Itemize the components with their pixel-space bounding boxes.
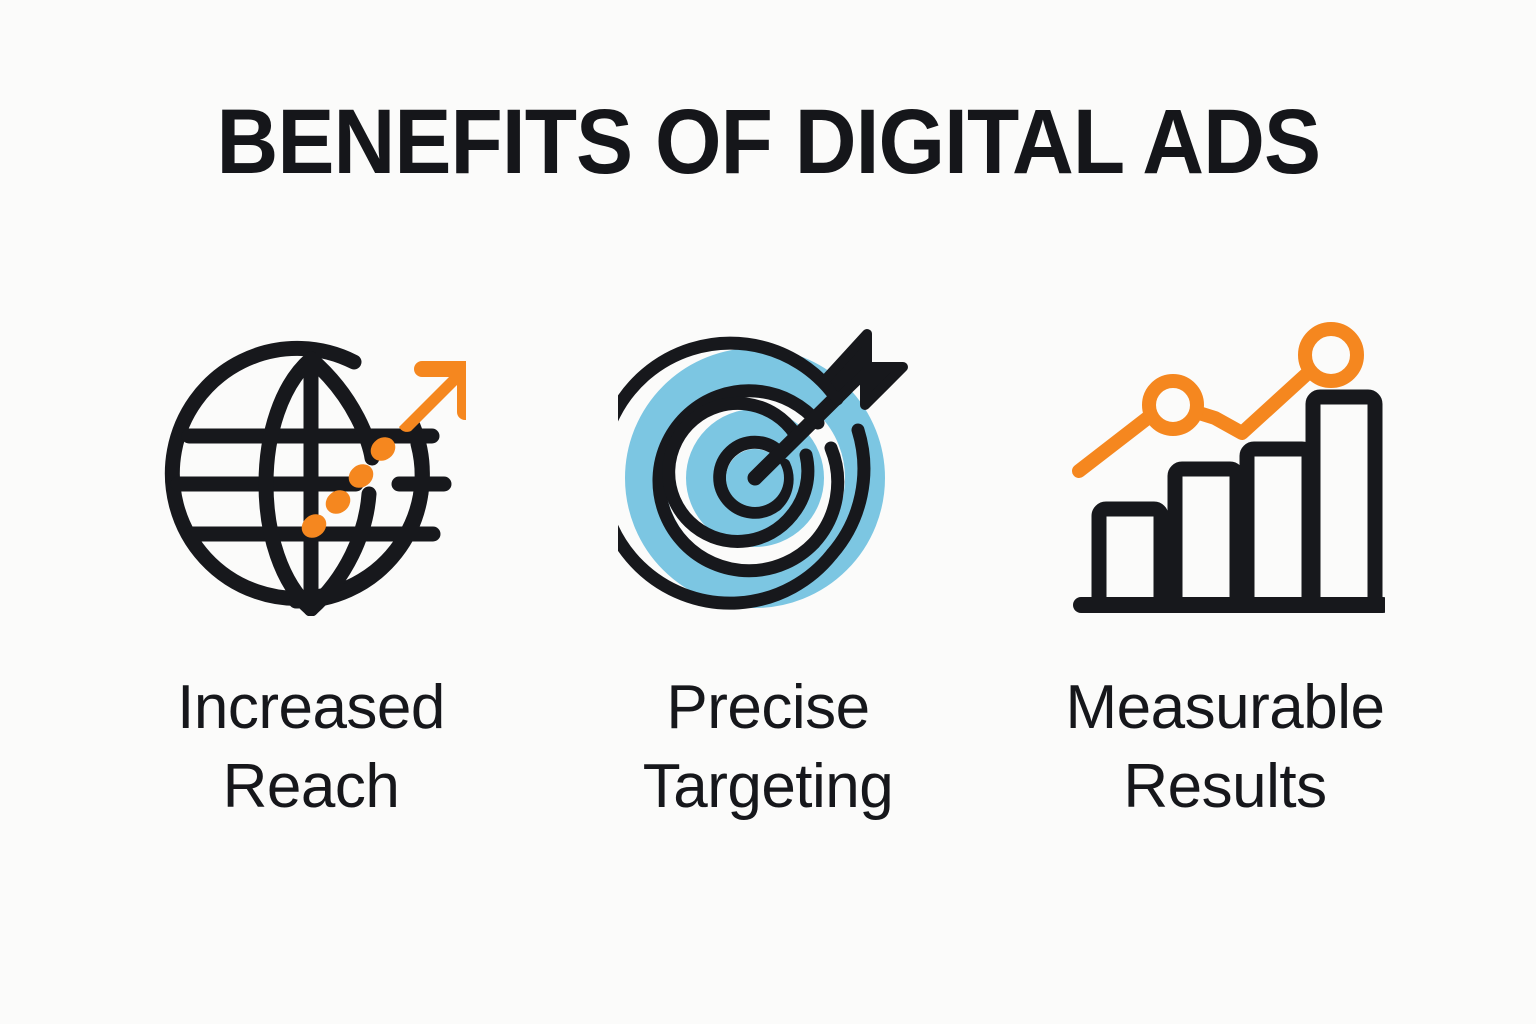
globe-arrow-icon [146, 316, 476, 626]
benefit-card-measurable-results: Measurable Results [1010, 316, 1440, 827]
benefit-label: Increased Reach [177, 668, 445, 827]
benefit-card-increased-reach: Increased Reach [96, 316, 526, 827]
title-container: BENEFITS OF DIGITAL ADS [0, 96, 1536, 188]
page-title: BENEFITS OF DIGITAL ADS [216, 96, 1320, 188]
benefit-label: Measurable Results [1066, 668, 1385, 827]
benefit-card-precise-targeting: Precise Targeting [553, 316, 983, 827]
benefit-label: Precise Targeting [643, 668, 894, 827]
bar-chart-growth-icon [1060, 316, 1390, 626]
benefits-row: Increased Reach [96, 316, 1440, 827]
target-arrow-icon [603, 316, 933, 626]
infographic-poster: BENEFITS OF DIGITAL ADS [0, 0, 1536, 1024]
